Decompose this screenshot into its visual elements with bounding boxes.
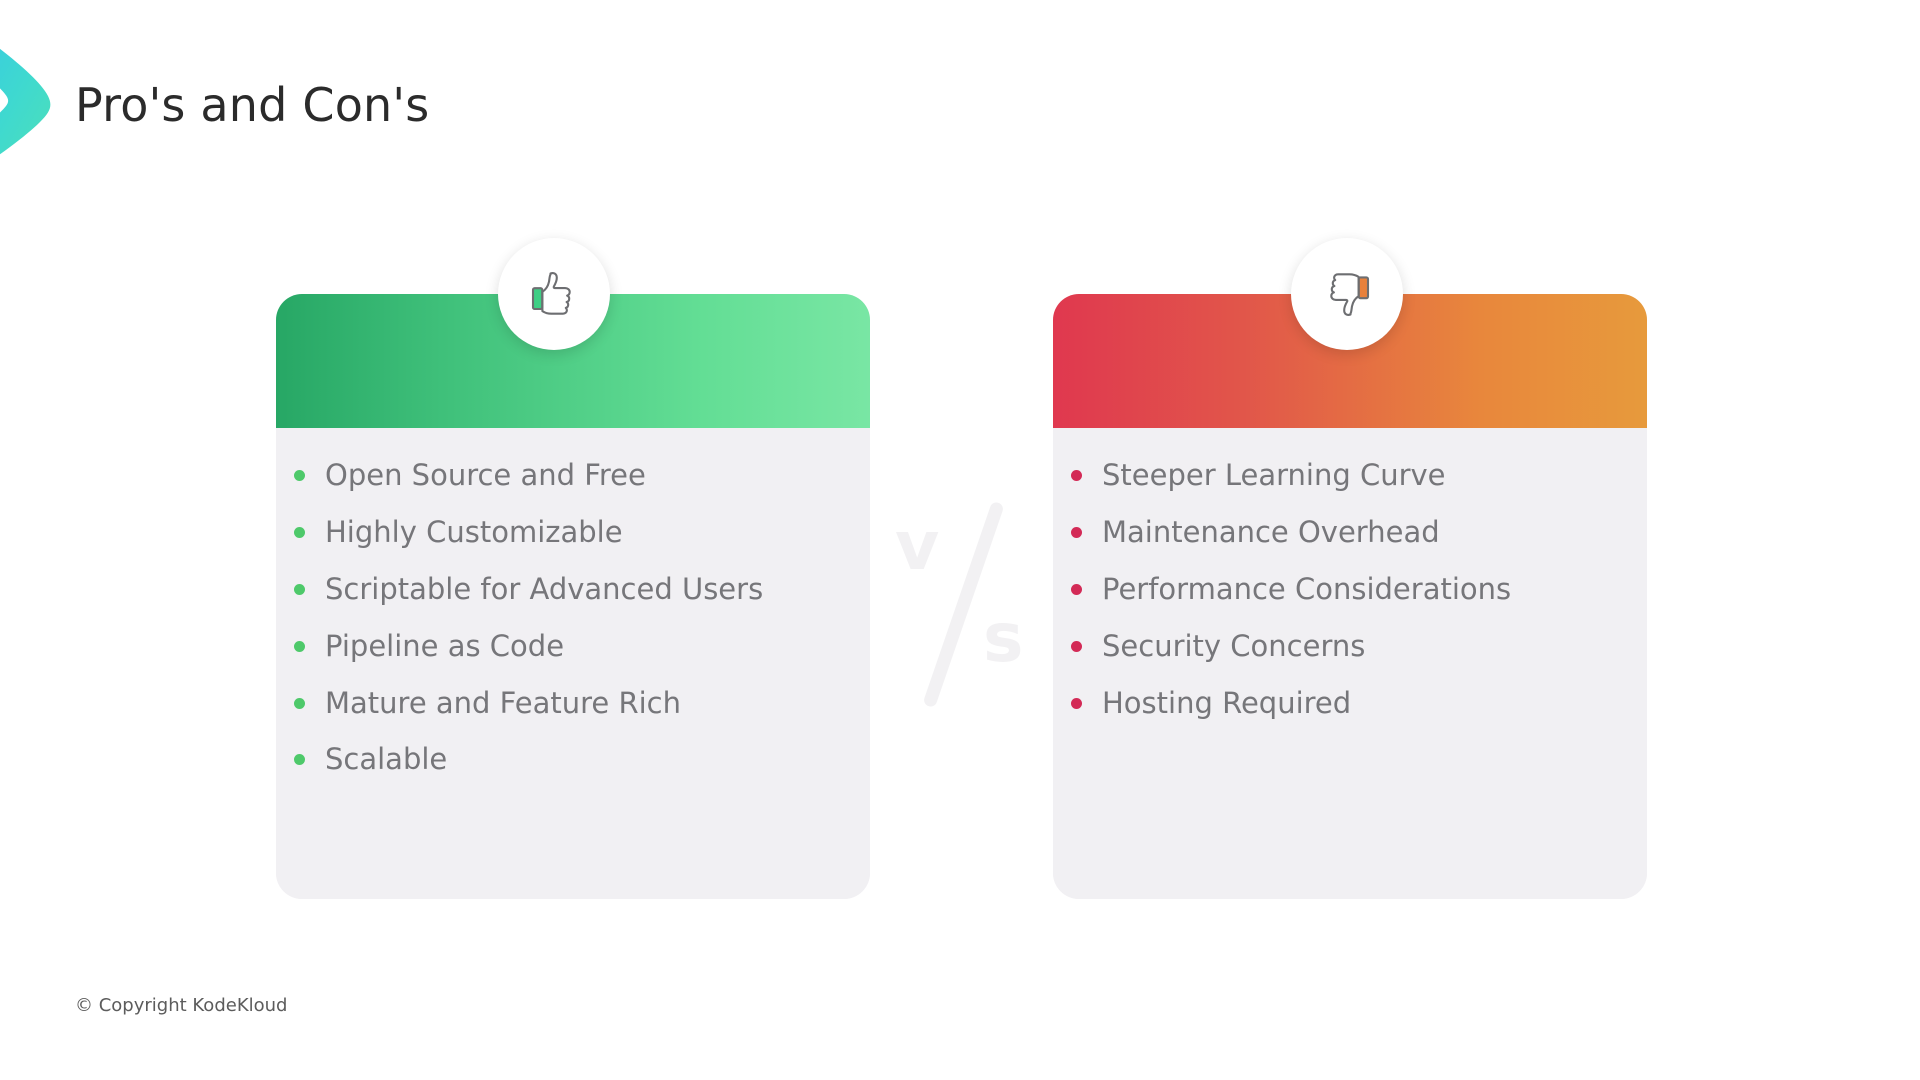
list-item: Performance Considerations xyxy=(1071,574,1647,606)
bullet-dot-icon xyxy=(294,527,305,538)
list-item: Highly Customizable xyxy=(294,517,870,549)
list-item-label: Highly Customizable xyxy=(325,517,623,549)
list-item: Steeper Learning Curve xyxy=(1071,460,1647,492)
list-item-label: Steeper Learning Curve xyxy=(1102,460,1446,492)
copyright-footer: © Copyright KodeKloud xyxy=(75,995,287,1016)
list-item-label: Maintenance Overhead xyxy=(1102,517,1440,549)
list-item-label: Performance Considerations xyxy=(1102,574,1511,606)
list-item: Open Source and Free xyxy=(294,460,870,492)
list-item-label: Scriptable for Advanced Users xyxy=(325,574,763,606)
list-item: Mature and Feature Rich xyxy=(294,688,870,720)
bullet-dot-icon xyxy=(1071,527,1082,538)
brand-logo xyxy=(0,14,70,184)
list-item: Scriptable for Advanced Users xyxy=(294,574,870,606)
list-item-label: Scalable xyxy=(325,744,447,776)
list-item-label: Open Source and Free xyxy=(325,460,646,492)
list-item: Hosting Required xyxy=(1071,688,1647,720)
bullet-dot-icon xyxy=(294,698,305,709)
bullet-dot-icon xyxy=(1071,470,1082,481)
pros-card-body: Open Source and Free Highly Customizable… xyxy=(276,428,870,899)
bullet-dot-icon xyxy=(294,754,305,765)
kodekloud-chevron-icon xyxy=(0,14,70,184)
cons-card-body: Steeper Learning Curve Maintenance Overh… xyxy=(1053,428,1647,899)
list-item-label: Security Concerns xyxy=(1102,631,1365,663)
pros-card: Open Source and Free Highly Customizable… xyxy=(276,294,870,899)
bullet-dot-icon xyxy=(1071,641,1082,652)
cons-list: Steeper Learning Curve Maintenance Overh… xyxy=(1053,460,1647,719)
bullet-dot-icon xyxy=(1071,584,1082,595)
list-item-label: Mature and Feature Rich xyxy=(325,688,681,720)
bullet-dot-icon xyxy=(294,641,305,652)
vs-watermark: v s xyxy=(895,505,1035,695)
thumbs-down-icon xyxy=(1316,263,1378,325)
vs-watermark-s: s xyxy=(983,605,1023,673)
pros-badge xyxy=(498,238,610,350)
cons-badge xyxy=(1291,238,1403,350)
thumbs-up-icon xyxy=(523,263,585,325)
page-title: Pro's and Con's xyxy=(75,78,429,132)
bullet-dot-icon xyxy=(294,470,305,481)
pros-list: Open Source and Free Highly Customizable… xyxy=(276,460,870,776)
vs-watermark-slash xyxy=(922,501,1004,709)
vs-watermark-v: v xyxy=(895,513,939,581)
list-item-label: Hosting Required xyxy=(1102,688,1351,720)
list-item: Scalable xyxy=(294,744,870,776)
list-item: Security Concerns xyxy=(1071,631,1647,663)
list-item: Pipeline as Code xyxy=(294,631,870,663)
list-item: Maintenance Overhead xyxy=(1071,517,1647,549)
bullet-dot-icon xyxy=(1071,698,1082,709)
bullet-dot-icon xyxy=(294,584,305,595)
list-item-label: Pipeline as Code xyxy=(325,631,564,663)
cons-card: Steeper Learning Curve Maintenance Overh… xyxy=(1053,294,1647,899)
